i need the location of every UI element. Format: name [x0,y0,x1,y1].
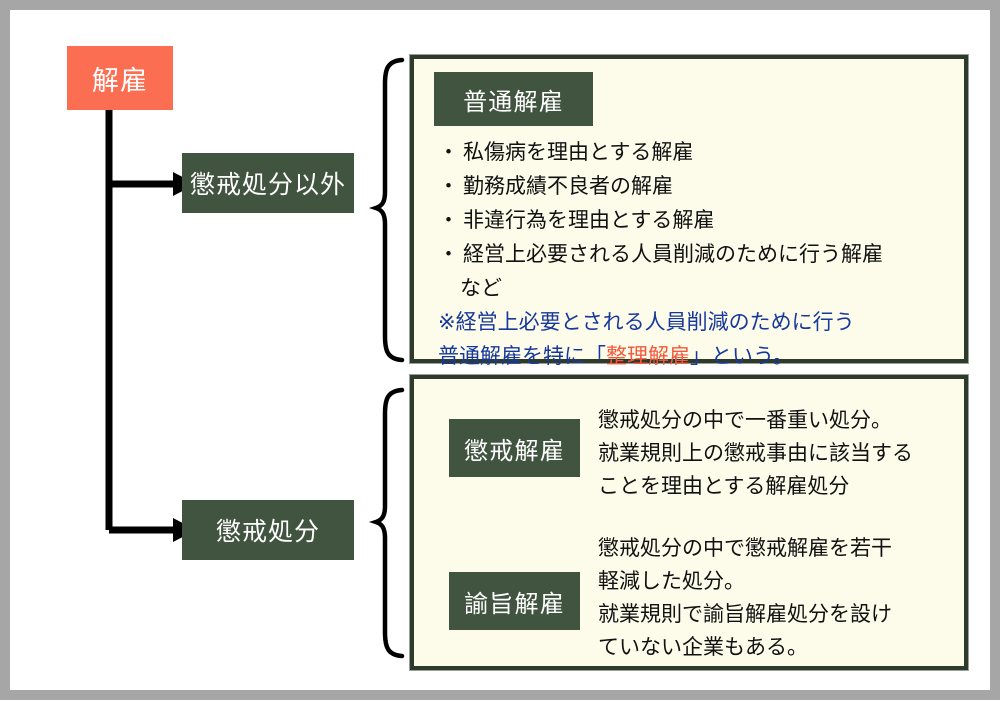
node-branch-discipline-label: 懲戒処分 [216,512,320,548]
chip-normal-dismissal-label: 普通解雇 [463,82,564,117]
note-line-2-prefix: 普通解雇を特に「 [438,344,606,368]
body-line: ことを理由とする解雇処分 [598,470,913,503]
note-line-2: 普通解雇を特に「整理解雇」という。 [438,339,958,373]
disciplinary-row-yushi: 諭旨解雇 懲戒処分の中で懲戒解雇を若干 軽減した処分。 就業規則で諭旨解雇処分を… [449,532,892,664]
body-line: 軽減した処分。 [598,565,892,598]
list-item-text: 経営上必要される人員削減のために行う解雇 [463,242,883,266]
bullet-marker: ・ [438,242,459,266]
node-root-label: 解雇 [92,59,148,98]
list-item: ・経営上必要される人員削減のために行う解雇 [438,237,958,271]
list-item-text: 非違行為を理由とする解雇 [463,208,714,232]
note-line-1: ※経営上必要とされる人員削減のために行う [438,305,958,339]
chip-disciplinary-dismissal-label: 懲戒解雇 [464,431,565,466]
panel-normal-dismissal: 普通解雇 ・私傷病を理由とする解雇 ・勤務成績不良者の解雇 ・非違行為を理由とす… [410,55,968,363]
diagram-frame: 解雇 懲戒処分以外 懲戒処分 普通解雇 ・私傷病を理由とする解雇 ・勤務成績不良… [0,0,1000,700]
disciplinary-row-choukai: 懲戒解雇 懲戒処分の中で一番重い処分。 就業規則上の懲戒事由に該当する ことを理… [449,404,913,503]
panel-disciplinary-dismissal: 懲戒解雇 懲戒処分の中で一番重い処分。 就業規則上の懲戒事由に該当する ことを理… [410,375,968,670]
list-item-text: 私傷病を理由とする解雇 [463,140,693,164]
body-line: 就業規則上の懲戒事由に該当する [598,437,913,470]
bullet-marker: ・ [438,208,459,232]
node-root-kaiko[interactable]: 解雇 [67,46,173,110]
list-item: ・勤務成績不良者の解雇 [438,169,958,203]
chip-normal-dismissal: 普通解雇 [434,72,593,126]
curly-brace-icon-bottom [376,390,402,656]
body-line: 懲戒処分の中で懲戒解雇を若干 [598,532,892,565]
chip-disciplinary-dismissal: 懲戒解雇 [449,419,580,477]
disciplinary-row-choukai-body: 懲戒処分の中で一番重い処分。 就業規則上の懲戒事由に該当する ことを理由とする解… [598,404,913,503]
node-branch-other-label: 懲戒処分以外 [190,165,346,201]
chip-advisory-dismissal: 諭旨解雇 [449,572,580,630]
disciplinary-row-yushi-body: 懲戒処分の中で懲戒解雇を若干 軽減した処分。 就業規則で諭旨解雇処分を設け てい… [598,532,892,664]
body-line: 懲戒処分の中で一番重い処分。 [598,404,913,437]
body-line: 就業規則で諭旨解雇処分を設け [598,598,892,631]
curly-brace-icon-top [376,60,402,360]
list-item-text: 勤務成績不良者の解雇 [463,174,673,198]
list-continuation: など [438,271,958,305]
note-line-2-suffix: 」という。 [690,344,794,368]
normal-dismissal-list: ・私傷病を理由とする解雇 ・勤務成績不良者の解雇 ・非違行為を理由とする解雇 ・… [438,135,958,373]
note-highlight-seiri-kaiko: 整理解雇 [606,344,690,368]
bullet-marker: ・ [438,140,459,164]
chip-advisory-dismissal-label: 諭旨解雇 [464,584,565,619]
list-item: ・私傷病を理由とする解雇 [438,135,958,169]
diagram-canvas: 解雇 懲戒処分以外 懲戒処分 普通解雇 ・私傷病を理由とする解雇 ・勤務成績不良… [10,10,990,690]
node-branch-discipline[interactable]: 懲戒処分 [182,500,354,560]
body-line: ていない企業もある。 [598,631,892,664]
list-item: ・非違行為を理由とする解雇 [438,203,958,237]
node-branch-other-than-discipline[interactable]: 懲戒処分以外 [182,153,354,213]
bullet-marker: ・ [438,174,459,198]
